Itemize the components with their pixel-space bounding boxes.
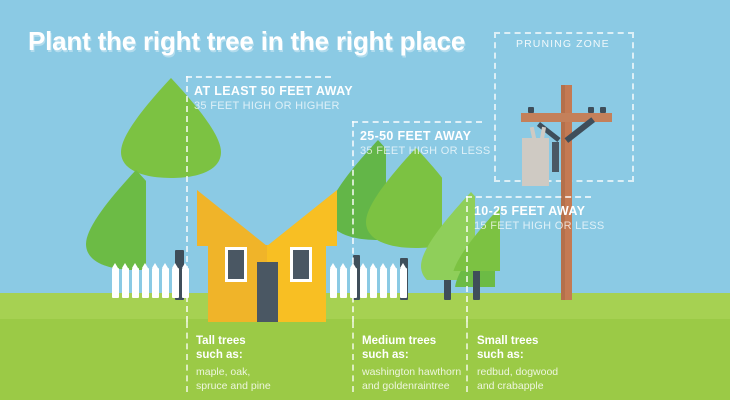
- fence-picket: [162, 268, 169, 298]
- legend-divider-2: [352, 322, 354, 392]
- bracket-2-left: [352, 121, 354, 322]
- pole-insulator-left: [528, 107, 534, 113]
- house-door: [257, 262, 278, 322]
- legend-tall-title-2: such as:: [196, 348, 271, 362]
- legend-medium-title-1: Medium trees: [362, 334, 461, 348]
- bracket-3-top: [466, 196, 591, 198]
- callout-small: 10-25 FEET AWAY 15 FEET HIGH OR LESS: [474, 204, 605, 232]
- pole-crossarm: [521, 113, 612, 122]
- transformer-bracket: [552, 142, 559, 172]
- fence-picket: [152, 268, 159, 298]
- legend-small-title-1: Small trees: [477, 334, 558, 348]
- fence-picket: [122, 268, 129, 298]
- infographic-root: Plant the right tree in the right place …: [0, 0, 730, 400]
- pole-insulator-right-b: [600, 107, 606, 113]
- legend-divider-1: [186, 322, 188, 392]
- callout-medium-distance: 25-50 FEET AWAY: [360, 129, 491, 143]
- legend-small-body-2: and crabapple: [477, 379, 558, 393]
- fence-picket: [390, 268, 397, 298]
- legend-small-trees: Small trees such as: redbud, dogwood and…: [477, 334, 558, 393]
- fence-picket: [172, 268, 179, 298]
- legend-medium-title-2: such as:: [362, 348, 461, 362]
- fence-right: [330, 265, 407, 298]
- legend-divider-3: [466, 322, 468, 392]
- bracket-3-left: [466, 196, 468, 322]
- house-roof-left: [197, 190, 267, 246]
- legend-small-title-2: such as:: [477, 348, 558, 362]
- fence-picket: [340, 268, 347, 298]
- legend-medium-body-2: and goldenraintree: [362, 379, 461, 393]
- legend-tall-trees: Tall trees such as: maple, oak, spruce a…: [196, 334, 271, 393]
- fence-picket: [330, 268, 337, 298]
- house-window-left: [225, 247, 247, 282]
- fence-picket: [360, 268, 367, 298]
- callout-medium-height: 35 FEET HIGH OR LESS: [360, 145, 491, 157]
- callout-tall-height: 35 FEET HIGH OR HIGHER: [194, 100, 353, 112]
- house-window-right: [290, 247, 312, 282]
- legend-tall-body-2: spruce and pine: [196, 379, 271, 393]
- callout-tall-distance: AT LEAST 50 FEET AWAY: [194, 84, 353, 98]
- fence-picket: [380, 268, 387, 298]
- bracket-2-top: [352, 121, 482, 123]
- callout-tall: AT LEAST 50 FEET AWAY 35 FEET HIGH OR HI…: [194, 84, 353, 112]
- callout-small-height: 15 FEET HIGH OR LESS: [474, 220, 605, 232]
- legend-small-body-1: redbud, dogwood: [477, 365, 558, 379]
- pruning-zone-label: PRUNING ZONE: [516, 38, 610, 50]
- legend-tall-body-1: maple, oak,: [196, 365, 271, 379]
- legend-medium-trees: Medium trees such as: washington hawthor…: [362, 334, 461, 393]
- bracket-1-left: [186, 76, 188, 322]
- callout-medium: 25-50 FEET AWAY 35 FEET HIGH OR LESS: [360, 129, 491, 157]
- fence-picket: [112, 268, 119, 298]
- fence-picket: [132, 268, 139, 298]
- pole-insulator-right-a: [588, 107, 594, 113]
- legend-tall-title-1: Tall trees: [196, 334, 271, 348]
- callout-small-distance: 10-25 FEET AWAY: [474, 204, 605, 218]
- transformer-body: [522, 138, 549, 186]
- fence-picket: [370, 268, 377, 298]
- page-title: Plant the right tree in the right place: [28, 26, 465, 57]
- fence-left: [112, 265, 189, 298]
- fence-picket: [142, 268, 149, 298]
- bracket-1-top: [186, 76, 331, 78]
- legend-medium-body-1: washington hawthorn: [362, 365, 461, 379]
- fence-picket: [400, 268, 407, 298]
- house-roof-right: [267, 190, 337, 246]
